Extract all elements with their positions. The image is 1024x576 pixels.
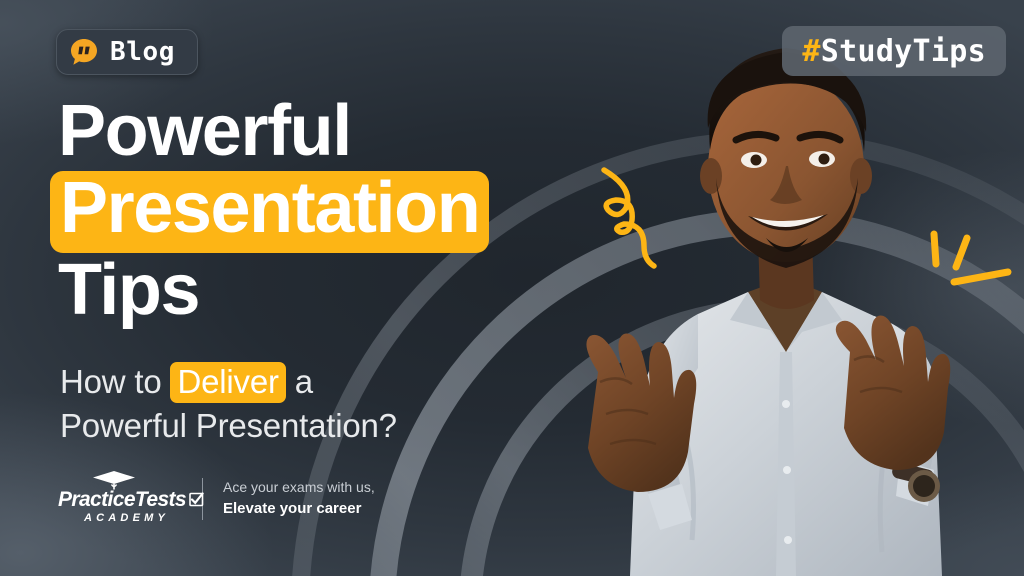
- blog-banner: Blog #StudyTips Powerful Presentation Ti…: [0, 0, 1024, 576]
- brand-name: PracticeTests: [58, 488, 186, 512]
- subtitle-before: How to: [60, 363, 170, 400]
- subtitle-after: a: [286, 363, 313, 400]
- headline-block: Powerful Presentation Tips: [58, 96, 618, 326]
- logo-lockup: PracticeTests ACADEMY Ace your exams wit…: [58, 470, 375, 528]
- tagline-line-2: Elevate your career: [223, 498, 375, 519]
- logo-mark: PracticeTests ACADEMY: [58, 470, 186, 528]
- hashtag-badge-text: #StudyTips: [802, 34, 986, 69]
- hashtag-badge[interactable]: #StudyTips: [782, 26, 1006, 76]
- hashtag-label: StudyTips: [821, 34, 986, 69]
- headline-line-2-highlight: Presentation: [50, 171, 489, 252]
- brand-row: PracticeTests: [58, 488, 204, 512]
- subtitle-line-2: Powerful Presentation?: [60, 407, 397, 444]
- checkbox-check-icon: [189, 492, 204, 507]
- subtitle-highlight: Deliver: [170, 362, 285, 403]
- blog-badge-label: Blog: [110, 37, 175, 67]
- tagline-block: Ace your exams with us, Elevate your car…: [223, 478, 375, 519]
- hash-symbol: #: [802, 34, 820, 69]
- subtitle-block: How to Deliver a Powerful Presentation?: [60, 360, 580, 447]
- headline-line-3: Tips: [58, 255, 618, 326]
- tagline-line-1: Ace your exams with us,: [223, 478, 375, 498]
- speech-bubble-quote-icon: [70, 38, 98, 66]
- brand-subtitle: ACADEMY: [84, 512, 169, 524]
- headline-line-1: Powerful: [58, 96, 618, 167]
- blog-badge[interactable]: Blog: [56, 29, 198, 75]
- graduation-cap-icon: [92, 470, 136, 490]
